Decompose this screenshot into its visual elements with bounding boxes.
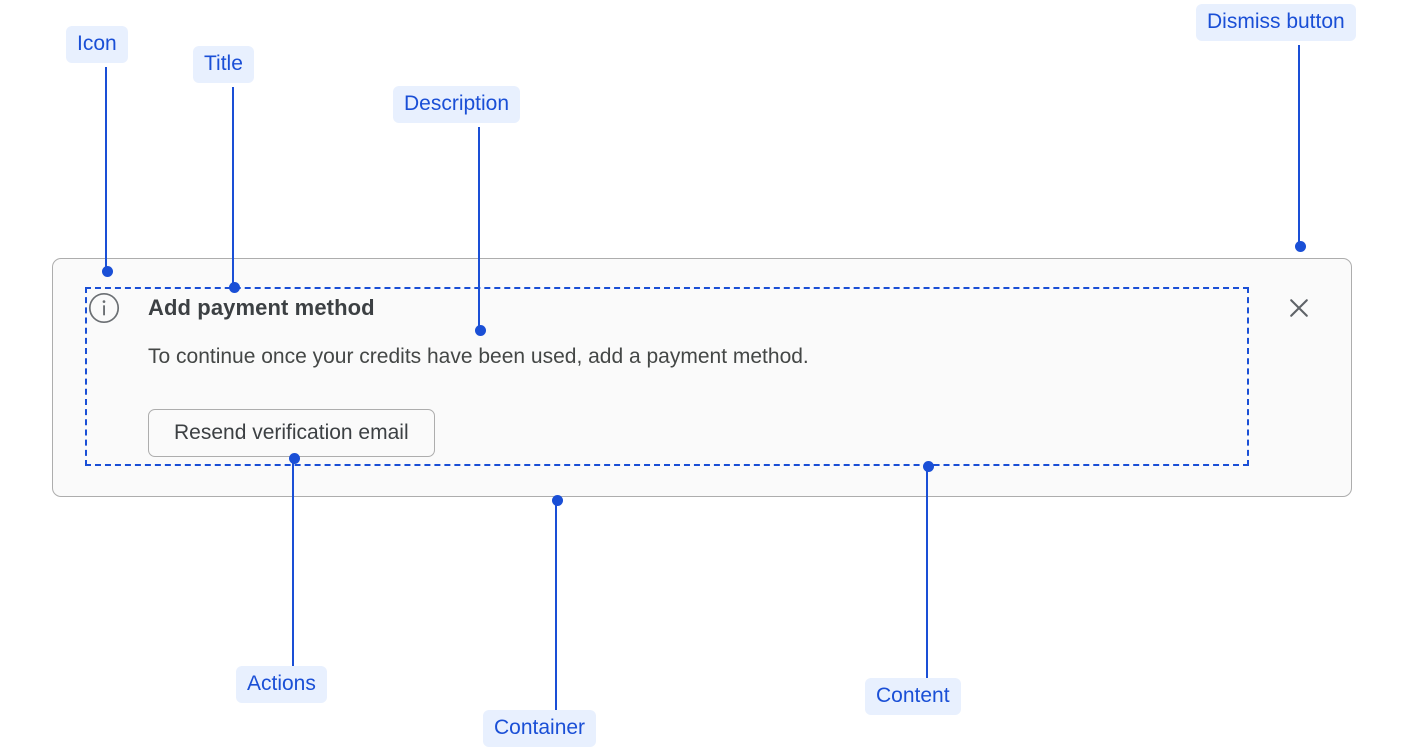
annotation-label-content: Content bbox=[865, 678, 961, 715]
annotation-label-container: Container bbox=[483, 710, 596, 747]
annotation-dot-dismiss-button bbox=[1295, 241, 1306, 252]
annotation-leader-container bbox=[555, 500, 557, 710]
annotation-dot-icon bbox=[102, 266, 113, 277]
annotation-label-description: Description bbox=[393, 86, 520, 123]
annotation-leader-actions bbox=[292, 458, 294, 666]
alert-actions: Resend verification email bbox=[148, 409, 435, 457]
annotation-label-dismiss-button: Dismiss button bbox=[1196, 4, 1356, 41]
annotation-leader-title bbox=[232, 87, 234, 287]
alert-description: To continue once your credits have been … bbox=[148, 343, 809, 371]
annotation-label-title: Title bbox=[193, 46, 254, 83]
annotation-leader-description bbox=[478, 127, 480, 330]
close-icon bbox=[1286, 295, 1312, 321]
annotation-dot-title bbox=[229, 282, 240, 293]
annotation-dot-actions bbox=[289, 453, 300, 464]
annotation-dot-description bbox=[475, 325, 486, 336]
annotation-leader-content bbox=[926, 466, 928, 678]
annotation-leader-icon bbox=[105, 67, 107, 271]
annotation-label-icon: Icon bbox=[66, 26, 128, 63]
annotation-dot-content bbox=[923, 461, 934, 472]
dismiss-button[interactable] bbox=[1281, 290, 1317, 326]
resend-verification-email-button[interactable]: Resend verification email bbox=[148, 409, 435, 457]
annotation-dot-container bbox=[552, 495, 563, 506]
info-circle-icon bbox=[88, 292, 120, 324]
annotation-leader-dismiss-button bbox=[1298, 45, 1300, 246]
alert-title: Add payment method bbox=[148, 294, 375, 322]
annotation-label-actions: Actions bbox=[236, 666, 327, 703]
